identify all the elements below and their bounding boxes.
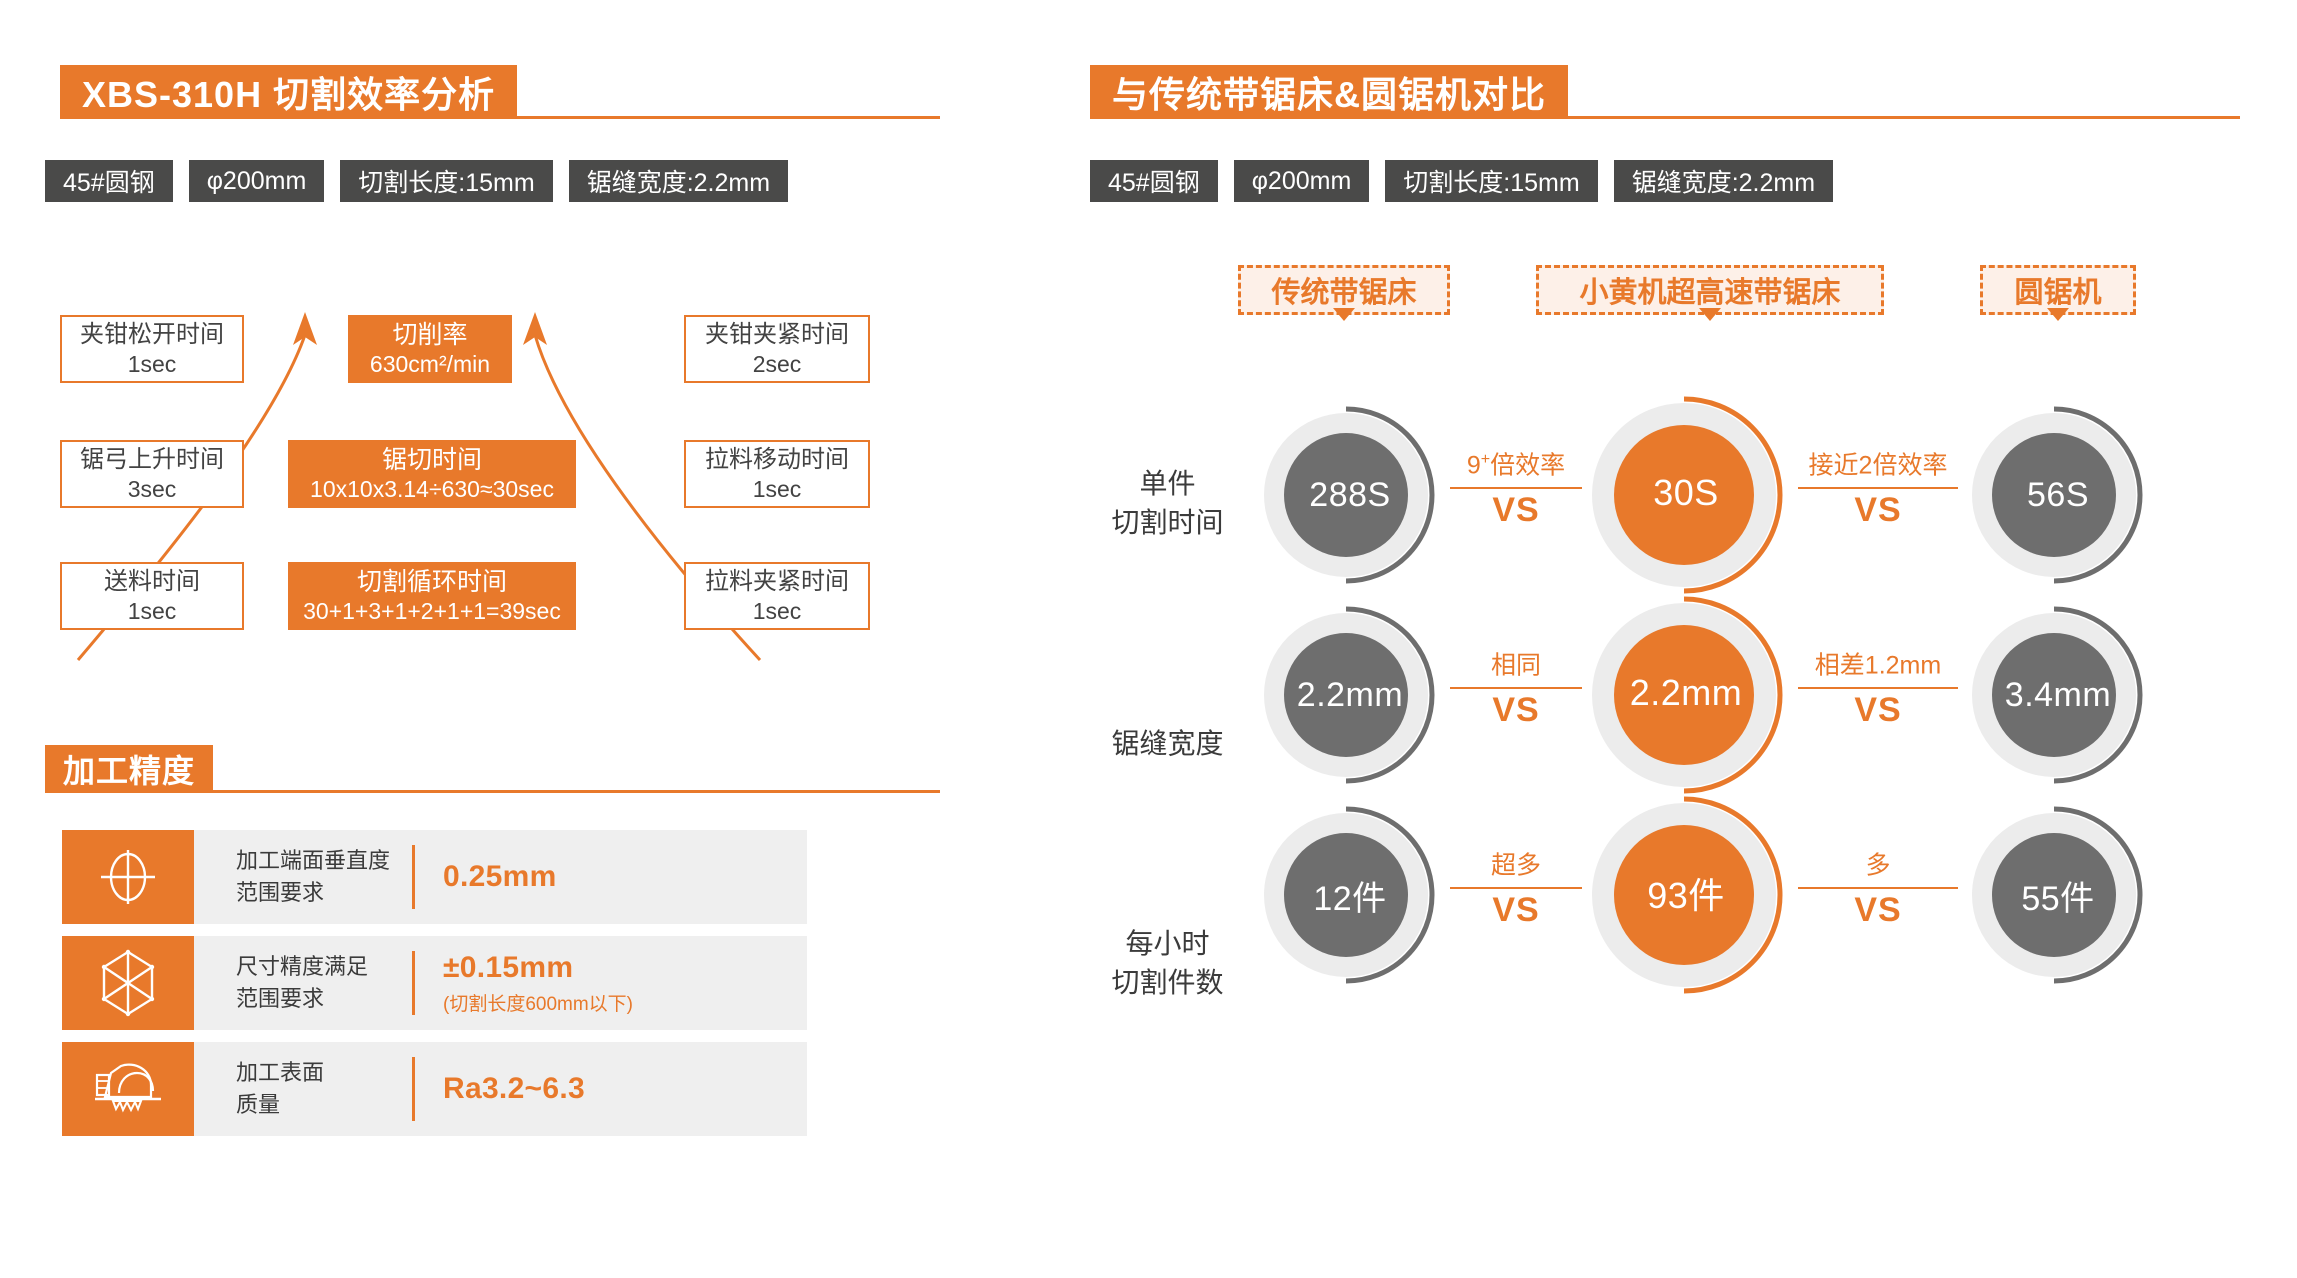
metric-value: 56S <box>1970 407 2146 583</box>
caret-down-icon <box>2047 308 2069 321</box>
metric-value: 93件 <box>1588 795 1784 991</box>
comparison-rule <box>1450 487 1582 489</box>
accuracy-row-body: 尺寸精度满足 范围要求 ±0.15mm (切割长度600mm以下) <box>194 936 807 1030</box>
accuracy-value-note: (切割长度600mm以下) <box>443 989 633 1016</box>
accuracy-row-label: 加工端面垂直度 范围要求 <box>236 845 412 909</box>
accuracy-section-header: 加工精度 <box>45 745 940 793</box>
cutting-cycle-flow-diagram: 夹钳松开时间 1sec 锯弓上升时间 3sec 送料时间 1sec 切削率 63… <box>60 290 940 650</box>
flow-box-title: 夹钳松开时间 <box>80 320 224 349</box>
flow-box-title: 切割循环时间 <box>357 567 507 598</box>
accuracy-row-value: 0.25mm <box>443 860 557 894</box>
accuracy-row-label: 尺寸精度满足 范围要求 <box>236 951 412 1015</box>
accuracy-value-main: Ra3.2~6.3 <box>443 1072 585 1106</box>
metric-circle-xiaohuangji: 30S <box>1588 395 1784 591</box>
column-header-traditional: 传统带锯床 <box>1238 265 1450 328</box>
row-label-cut-time: 单件 切割时间 <box>1080 465 1255 542</box>
flow-box-value: 3sec <box>128 475 177 503</box>
flow-box-saw-time: 锯切时间 10x10x3.14÷630≈30sec <box>288 440 576 508</box>
infographic-page: XBS-310H 切割效率分析 45#圆钢 φ200mm 切割长度:15mm 锯… <box>0 0 2297 1278</box>
row-label-kerf-width: 锯缝宽度 <box>1080 725 1255 764</box>
flow-box-clamp-release: 夹钳松开时间 1sec <box>60 315 244 383</box>
accuracy-label-line2: 质量 <box>236 1089 412 1121</box>
accuracy-section-title: 加工精度 <box>45 745 213 793</box>
flow-box-puller-clamp: 拉料夹紧时间 1sec <box>684 562 870 630</box>
flow-box-title: 送料时间 <box>104 567 200 596</box>
accuracy-divider <box>412 1057 415 1121</box>
flow-box-saw-bow-rise: 锯弓上升时间 3sec <box>60 440 244 508</box>
spec-tag: 锯缝宽度:2.2mm <box>1614 160 1833 202</box>
flow-box-title: 拉料移动时间 <box>705 445 849 474</box>
column-header-xiaohuangji: 小黄机超高速带锯床 <box>1536 265 1884 328</box>
flow-box-clamp-tighten: 夹钳夹紧时间 2sec <box>684 315 870 383</box>
metric-circle-xiaohuangji: 2.2mm <box>1588 595 1784 791</box>
metric-circle-traditional: 2.2mm <box>1262 607 1438 783</box>
metric-value: 3.4mm <box>1970 607 2146 783</box>
comparison-vs-label: VS <box>1790 691 1966 730</box>
accuracy-label-line1: 加工表面 <box>236 1057 412 1089</box>
spec-tag: 45#圆钢 <box>45 160 173 202</box>
row-label-line1: 锯缝宽度 <box>1080 725 1255 764</box>
flow-box-feeding: 送料时间 1sec <box>60 562 244 630</box>
accuracy-row-label: 加工表面 质量 <box>236 1057 412 1121</box>
row-label-line2: 切割件数 <box>1080 964 1255 1003</box>
comparison-vs-right: 多 VS <box>1790 851 1966 930</box>
row-label-line1: 每小时 <box>1080 925 1255 964</box>
accuracy-row: 尺寸精度满足 范围要求 ±0.15mm (切割长度600mm以下) <box>62 936 807 1030</box>
comparison-rule <box>1798 687 1958 689</box>
right-section-title: 与传统带锯床&圆锯机对比 <box>1090 65 1568 119</box>
accuracy-row-body: 加工端面垂直度 范围要求 0.25mm <box>194 830 807 924</box>
caret-down-icon <box>1333 308 1355 321</box>
comparison-rule <box>1798 887 1958 889</box>
flow-box-value: 630cm²/min <box>370 350 490 378</box>
comparison-vs-label: VS <box>1442 491 1590 530</box>
comparison-vs-label: VS <box>1442 891 1590 930</box>
row-label-line2: 切割时间 <box>1080 504 1255 543</box>
right-section-header: 与传统带锯床&圆锯机对比 <box>1090 65 2240 119</box>
row-label-pieces-per-hour: 每小时 切割件数 <box>1080 925 1255 1002</box>
metric-value: 55件 <box>1970 807 2146 983</box>
flow-box-title: 拉料夹紧时间 <box>705 567 849 596</box>
flow-box-value: 10x10x3.14÷630≈30sec <box>310 475 554 503</box>
accuracy-label-line1: 加工端面垂直度 <box>236 845 412 877</box>
flow-box-value: 1sec <box>128 350 177 378</box>
accuracy-row: 加工端面垂直度 范围要求 0.25mm <box>62 830 807 924</box>
flow-box-title: 锯弓上升时间 <box>80 445 224 474</box>
metric-circle-circular-saw: 55件 <box>1970 807 2146 983</box>
comparison-rule <box>1450 887 1582 889</box>
comparison-vs-right: 接近2倍效率 VS <box>1790 451 1966 530</box>
spec-tag: φ200mm <box>1234 160 1370 202</box>
accuracy-header-rule <box>213 790 940 793</box>
flow-box-value: 1sec <box>753 475 802 503</box>
flow-box-title: 锯切时间 <box>382 445 482 476</box>
metric-circle-traditional: 12件 <box>1262 807 1438 983</box>
left-section-title: XBS-310H 切割效率分析 <box>60 65 517 119</box>
flow-box-title: 切削率 <box>392 320 467 351</box>
spec-tag: φ200mm <box>189 160 325 202</box>
metric-value: 12件 <box>1262 807 1438 983</box>
metric-circle-circular-saw: 3.4mm <box>1970 607 2146 783</box>
comparison-note: 相同 <box>1442 651 1590 680</box>
accuracy-divider <box>412 845 415 909</box>
accuracy-row-value: Ra3.2~6.3 <box>443 1072 585 1106</box>
left-header-rule <box>517 116 940 119</box>
comparison-note: 接近2倍效率 <box>1790 451 1966 480</box>
hexagonal-prism-icon <box>62 936 194 1030</box>
accuracy-label-line1: 尺寸精度满足 <box>236 951 412 983</box>
spec-tag: 锯缝宽度:2.2mm <box>569 160 788 202</box>
accuracy-row-body: 加工表面 质量 Ra3.2~6.3 <box>194 1042 807 1136</box>
accuracy-label-line2: 范围要求 <box>236 983 412 1015</box>
comparison-vs-left: 相同 VS <box>1442 651 1590 730</box>
metric-value: 288S <box>1262 407 1438 583</box>
flow-box-value: 30+1+3+1+2+1+1=39sec <box>303 597 561 625</box>
metric-circle-traditional: 288S <box>1262 407 1438 583</box>
caret-down-icon <box>1699 308 1721 321</box>
accuracy-label-line2: 范围要求 <box>236 877 412 909</box>
comparison-note: 超多 <box>1442 851 1590 880</box>
spec-tag: 切割长度:15mm <box>340 160 552 202</box>
comparison-table: 传统带锯床 小黄机超高速带锯床 圆锯机 单件 切割时间 288S 9+倍效率 <box>1090 255 2250 1235</box>
metric-value: 2.2mm <box>1588 595 1784 791</box>
comparison-vs-label: VS <box>1790 491 1966 530</box>
column-header-circular-saw: 圆锯机 <box>1980 265 2136 328</box>
circular-saw-icon <box>62 1042 194 1136</box>
metric-circle-xiaohuangji: 93件 <box>1588 795 1784 991</box>
flow-box-value: 1sec <box>128 597 177 625</box>
crosshair-target-icon <box>62 830 194 924</box>
accuracy-divider <box>412 951 415 1015</box>
metric-value: 2.2mm <box>1262 607 1438 783</box>
comparison-note: 9+倍效率 <box>1442 451 1590 480</box>
row-label-line1: 单件 <box>1080 465 1255 504</box>
left-spec-tags: 45#圆钢 φ200mm 切割长度:15mm 锯缝宽度:2.2mm <box>45 160 804 202</box>
accuracy-row-value: ±0.15mm (切割长度600mm以下) <box>443 951 633 1016</box>
comparison-vs-label: VS <box>1790 891 1966 930</box>
accuracy-list: 加工端面垂直度 范围要求 0.25mm <box>62 830 807 1148</box>
comparison-rule <box>1798 487 1958 489</box>
right-header-rule <box>1568 116 2240 119</box>
spec-tag: 45#圆钢 <box>1090 160 1218 202</box>
comparison-vs-right: 相差1.2mm VS <box>1790 651 1966 730</box>
flow-box-value: 1sec <box>753 597 802 625</box>
right-spec-tags: 45#圆钢 φ200mm 切割长度:15mm 锯缝宽度:2.2mm <box>1090 160 1849 202</box>
flow-box-puller-move: 拉料移动时间 1sec <box>684 440 870 508</box>
spec-tag: 切割长度:15mm <box>1385 160 1597 202</box>
metric-value: 30S <box>1588 395 1784 591</box>
comparison-vs-left: 超多 VS <box>1442 851 1590 930</box>
comparison-note: 相差1.2mm <box>1790 651 1966 680</box>
flow-box-title: 夹钳夹紧时间 <box>705 320 849 349</box>
accuracy-value-main: 0.25mm <box>443 860 557 894</box>
comparison-vs-label: VS <box>1442 691 1590 730</box>
accuracy-row: 加工表面 质量 Ra3.2~6.3 <box>62 1042 807 1136</box>
metric-circle-circular-saw: 56S <box>1970 407 2146 583</box>
comparison-rule <box>1450 687 1582 689</box>
accuracy-value-main: ±0.15mm <box>443 951 633 985</box>
flow-box-cycle-time: 切割循环时间 30+1+3+1+2+1+1=39sec <box>288 562 576 630</box>
left-section-header: XBS-310H 切割效率分析 <box>60 65 940 119</box>
flow-box-value: 2sec <box>753 350 802 378</box>
comparison-vs-left: 9+倍效率 VS <box>1442 451 1590 530</box>
comparison-note: 多 <box>1790 851 1966 880</box>
flow-box-cutting-rate: 切削率 630cm²/min <box>348 315 512 383</box>
